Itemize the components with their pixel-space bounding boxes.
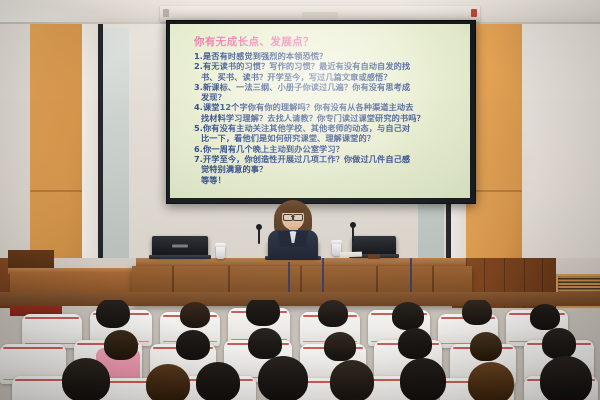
window-glass-left xyxy=(103,28,129,272)
wood-pilaster-left xyxy=(30,24,82,276)
paper-cup-left xyxy=(216,246,225,259)
slide-content: 你有无成长点、发展点？ 1.是否有时感觉到强烈的本领恐慌？ 2.有无读书的习惯？… xyxy=(194,36,450,185)
blazer-lapel-left xyxy=(278,231,293,247)
monitor-stand-right xyxy=(368,254,380,259)
audience-head xyxy=(462,300,492,325)
slide-line: 比一下，看他们是如何研究课堂、理解课堂的？ xyxy=(194,133,450,143)
housing-tab xyxy=(302,12,338,19)
slide-line: 7.开学至今，你创造性开展过几项工作？你做过几件自己感 xyxy=(194,154,450,164)
slide-line: 3.新课标、一法三纲、小册子你读过几遍？你有没有思考成 xyxy=(194,82,450,92)
cup-lid xyxy=(331,240,342,244)
slide-line: 6.你一周有几个晚上主动到办公室学习？ xyxy=(194,144,450,154)
microphone-right xyxy=(352,226,354,242)
lecture-hall-photo: 你有无成长点、发展点？ 1.是否有时感觉到强烈的本领恐慌？ 2.有无读书的习惯？… xyxy=(0,0,600,400)
audience-head xyxy=(318,300,348,327)
audience-head xyxy=(540,356,592,400)
audience-area xyxy=(0,300,600,400)
slide-line: 书、买书、读书？开学至今，写过几篇文章或感悟？ xyxy=(194,72,450,82)
presenter xyxy=(262,198,324,260)
audience-head xyxy=(400,358,446,400)
glasses-lens-right xyxy=(293,214,303,221)
slide-line: 觉特别满意的事？ xyxy=(194,164,450,174)
audience-head xyxy=(196,362,240,400)
presenter-glasses xyxy=(283,214,303,219)
slide-line: 4.课堂12个字你有你的理解吗？你有没有从各种渠道主动去 xyxy=(194,102,450,112)
projection-screen: 你有无成长点、发展点？ 1.是否有时感觉到强烈的本领恐慌？ 2.有无读书的习惯？… xyxy=(170,24,470,198)
slide-line: 等等！ xyxy=(194,175,450,185)
audience-head xyxy=(398,328,432,359)
audience-head xyxy=(104,330,138,360)
window-mullion-left xyxy=(98,24,103,276)
slide-line: 发现？ xyxy=(194,92,450,102)
audience-head xyxy=(468,362,514,400)
audience-head xyxy=(324,332,356,361)
audience-head xyxy=(258,356,308,400)
housing-end-left xyxy=(163,9,169,17)
microphone-left xyxy=(258,228,260,244)
audience-head xyxy=(542,328,576,359)
laptop-base xyxy=(149,255,211,259)
audience-head xyxy=(180,302,210,328)
slide-line: 找材料学习理解？去找人请教？你专门读过课堂研究的书吗？ xyxy=(194,113,450,123)
audience-head xyxy=(96,300,130,328)
slide-line: 5.你有没有主动关注其他学校、其他老师的动态，与自己对 xyxy=(194,123,450,133)
audience-head xyxy=(470,332,502,361)
paper-stack xyxy=(340,252,362,258)
audience-head xyxy=(146,364,190,400)
housing-end-right xyxy=(471,9,477,17)
laptop-left xyxy=(152,236,208,256)
window-jamb-left xyxy=(82,24,98,276)
laptop-badge xyxy=(172,244,188,247)
slide-line: 1.是否有时感觉到强烈的本领恐慌？ xyxy=(194,51,450,61)
presenter-fringe xyxy=(280,203,306,213)
slide-title: 你有无成长点、发展点？ xyxy=(194,36,450,49)
slide-line: 2.有无读书的习惯？写作的习惯？最近有没有自动自发的找 xyxy=(194,61,450,71)
audience-head xyxy=(246,300,280,326)
microphone-head xyxy=(350,222,356,228)
audience-head xyxy=(530,304,560,330)
audience-head xyxy=(62,358,110,400)
audience-head xyxy=(176,330,210,360)
cup-lid xyxy=(215,243,226,247)
audience-head xyxy=(392,302,424,330)
audience-head xyxy=(330,360,374,400)
seat xyxy=(22,314,82,348)
audience-head xyxy=(248,328,282,359)
